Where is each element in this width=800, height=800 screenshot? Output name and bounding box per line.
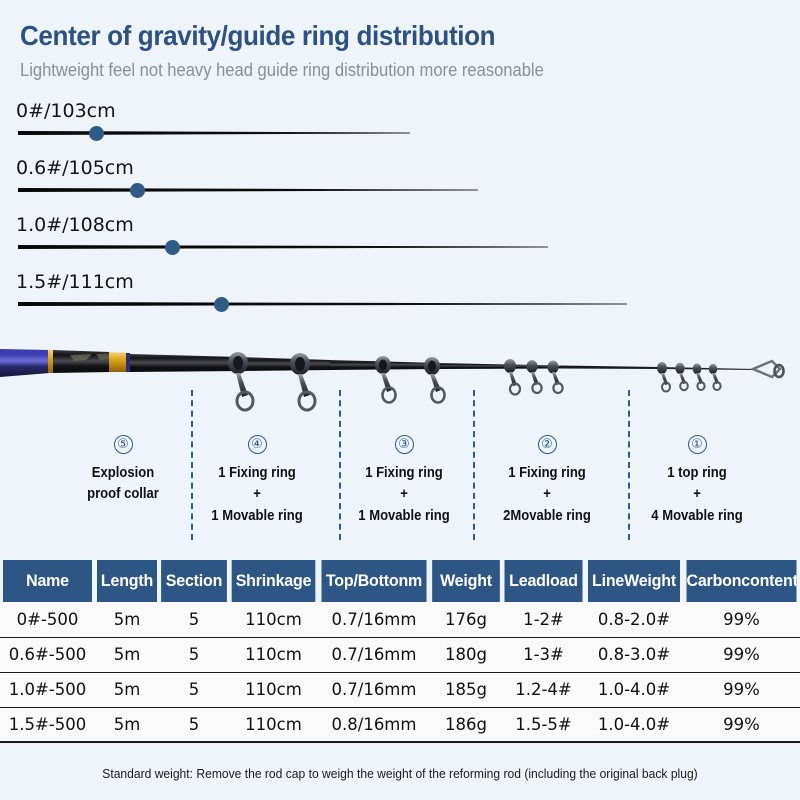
table-cell: 110cm [229,707,318,742]
cg-balance-point-dot [214,297,229,312]
table-cell: 186g [430,707,502,742]
cg-row: 1.0#/108cm [0,214,800,270]
table-cell: 5m [95,637,159,672]
cg-row: 0#/103cm [0,100,800,156]
table-cell: 1.5#-500 [0,707,95,742]
page-subtitle: Lightweight feel not heavy head guide ri… [20,60,544,81]
table-column-header: Top/Bottonm [321,560,426,602]
cg-balance-point-dot [89,126,104,141]
table-column-header: Leadload [504,560,582,602]
table-column-header: Section [161,560,227,602]
table-cell: 5 [159,707,229,742]
table-row: 1.0#-5005m5110cm0.7/16mm185g1.2-4#1.0-4.… [0,672,800,707]
table-cell: 1.5-5# [502,707,585,742]
table-cell: 110cm [229,602,318,637]
table-cell: 0.7/16mm [318,637,430,672]
callout-text-line: + [616,484,778,505]
table-cell: 5 [159,672,229,707]
table-cell: 0.7/16mm [318,672,430,707]
table-cell: 99% [683,602,800,637]
table-cell: 0.7/16mm [318,602,430,637]
table-cell: 110cm [229,672,318,707]
cg-label: 0.6#/105cm [16,157,134,179]
cg-rod-line [18,302,627,306]
table-cell: 1-3# [502,637,585,672]
center-of-gravity-diagram: 0#/103cm0.6#/105cm1.0#/108cm1.5#/111cm [0,100,800,325]
table-footnote: Standard weight: Remove the rod cap to w… [28,766,772,781]
cg-rod-line [18,188,478,192]
table-column-header: Name [3,560,92,602]
callout-number-icon: ④ [248,435,267,454]
callout-text-line: 1 Fixing ring [466,463,628,484]
fishing-rod-illustration [0,325,800,435]
table-cell: 5m [95,672,159,707]
table-cell: 0.8-3.0# [585,637,683,672]
table-cell: 110cm [229,637,318,672]
table-cell: 176g [430,602,502,637]
callout-text-line: 2Movable ring [466,506,628,527]
page-title: Center of gravity/guide ring distributio… [20,20,495,52]
table-column-header: Length [97,560,157,602]
table-row: 1.5#-5005m5110cm0.8/16mm186g1.5-5#1.0-4.… [0,707,800,742]
table-cell: 185g [430,672,502,707]
cg-label: 1.5#/111cm [16,271,134,293]
cg-row: 1.5#/111cm [0,271,800,327]
table-cell: 5 [159,602,229,637]
table-cell: 5 [159,637,229,672]
table-column-header: Weight [432,560,500,602]
cg-label: 0#/103cm [16,100,116,122]
cg-rod-line [18,245,548,249]
table-cell: 5m [95,707,159,742]
table-cell: 1-2# [502,602,585,637]
table-cell: 0.8/16mm [318,707,430,742]
rod-svg [0,325,800,435]
guide-ring-callouts: ⑤Explosionproof collar④1 Fixing ring+1 M… [0,435,800,560]
table-cell: 99% [683,637,800,672]
callout-number-icon: ⑤ [114,435,133,454]
specification-table: NameLengthSectionShrinkageTop/BottonmWei… [0,560,800,743]
table-column-header: LineWeight [588,560,680,602]
callout-text-line: 1 top ring [616,463,778,484]
table-cell: 5m [95,602,159,637]
cg-label: 1.0#/108cm [16,214,134,236]
infographic-page: Center of gravity/guide ring distributio… [0,0,800,800]
table-cell: 0.8-2.0# [585,602,683,637]
callout-text-line: 4 Movable ring [616,506,778,527]
table-column-header: Carboncontent [687,560,797,602]
callout-group: ①1 top ring+4 Movable ring [607,435,787,527]
table-cell: 99% [683,672,800,707]
table-row: 0.6#-5005m5110cm0.7/16mm180g1-3#0.8-3.0#… [0,637,800,672]
table-column-header: Shrinkage [232,560,316,602]
cg-balance-point-dot [130,183,145,198]
table-cell: 1.0-4.0# [585,707,683,742]
table-cell: 99% [683,707,800,742]
cg-row: 0.6#/105cm [0,157,800,213]
table-header-row: NameLengthSectionShrinkageTop/BottonmWei… [0,560,800,602]
callout-number-icon: ③ [395,435,414,454]
table-body: 0#-5005m5110cm0.7/16mm176g1-2#0.8-2.0#99… [0,602,800,742]
table-head: NameLengthSectionShrinkageTop/BottonmWei… [0,560,800,602]
table-cell: 0#-500 [0,602,95,637]
table-cell: 0.6#-500 [0,637,95,672]
top-ring-icon [753,361,784,377]
callout-number-icon: ② [538,435,557,454]
cg-rod-line [18,131,410,135]
table-cell: 180g [430,637,502,672]
cg-balance-point-dot [165,240,180,255]
table-row: 0#-5005m5110cm0.7/16mm176g1-2#0.8-2.0#99… [0,602,800,637]
callout-text-line: + [466,484,628,505]
table-cell: 1.2-4# [502,672,585,707]
callout-number-icon: ① [688,435,707,454]
table-cell: 1.0-4.0# [585,672,683,707]
table-cell: 1.0#-500 [0,672,95,707]
